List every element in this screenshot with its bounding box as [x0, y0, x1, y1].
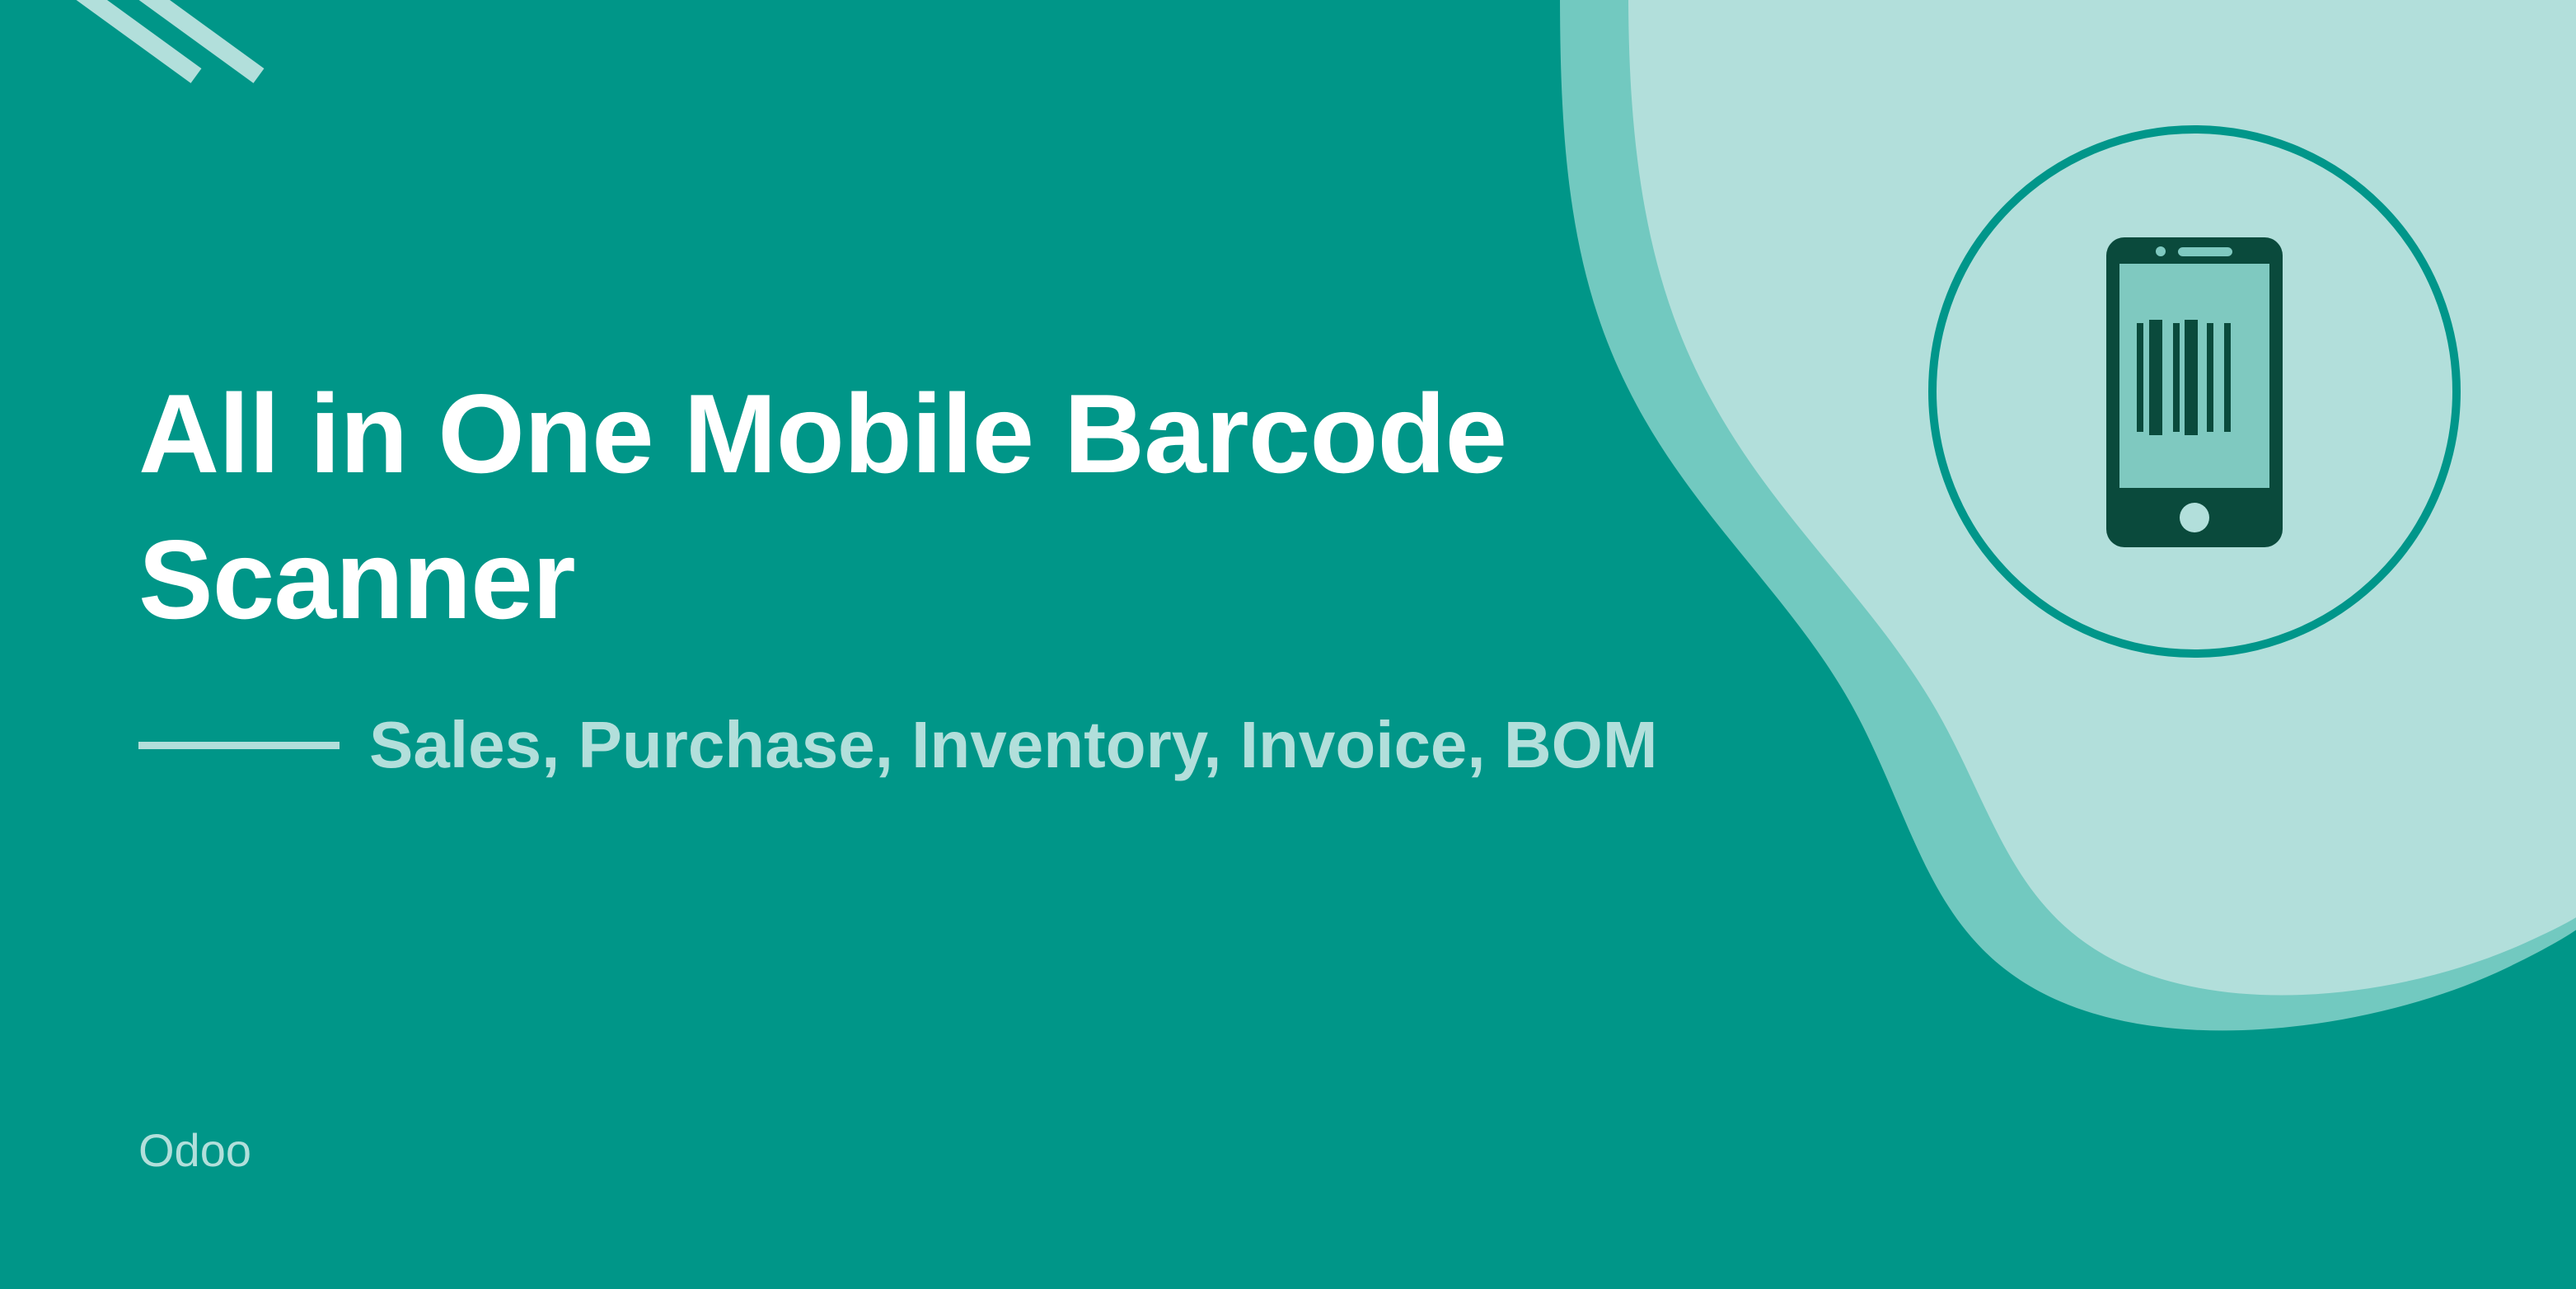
- barcode-icon: [2137, 320, 2231, 435]
- phone-speaker-icon: [2178, 247, 2232, 256]
- slide-canvas: All in One Mobile Barcode Scanner Sales,…: [0, 0, 2576, 1289]
- slide-subtitle: Sales, Purchase, Inventory, Invoice, BOM: [369, 702, 1704, 788]
- phone-home-button: [2180, 503, 2209, 532]
- barcode-bar: [2149, 320, 2162, 435]
- blob-back-mid-teal: [1560, 0, 2576, 1030]
- subtitle-rule-divider: [138, 742, 340, 749]
- barcode-bar: [2137, 323, 2143, 432]
- phone-camera-icon: [2156, 246, 2166, 256]
- phone-body: [2106, 237, 2283, 547]
- blob-front-light-mint: [1628, 0, 2576, 995]
- barcode-bar: [2207, 323, 2213, 432]
- brand-label: Odoo: [138, 1127, 251, 1174]
- text-content-block: All in One Mobile Barcode Scanner Sales,…: [138, 0, 1704, 1289]
- phone-screen: [2119, 264, 2269, 488]
- slide-title: All in One Mobile Barcode Scanner: [138, 361, 1704, 653]
- icon-circle-outline: [1932, 129, 2457, 654]
- mobile-barcode-scanner-icon: [1932, 129, 2457, 654]
- barcode-bar: [2224, 323, 2231, 432]
- subtitle-row: Sales, Purchase, Inventory, Invoice, BOM: [138, 702, 1704, 788]
- barcode-bar: [2185, 320, 2198, 435]
- barcode-bar: [2173, 323, 2180, 432]
